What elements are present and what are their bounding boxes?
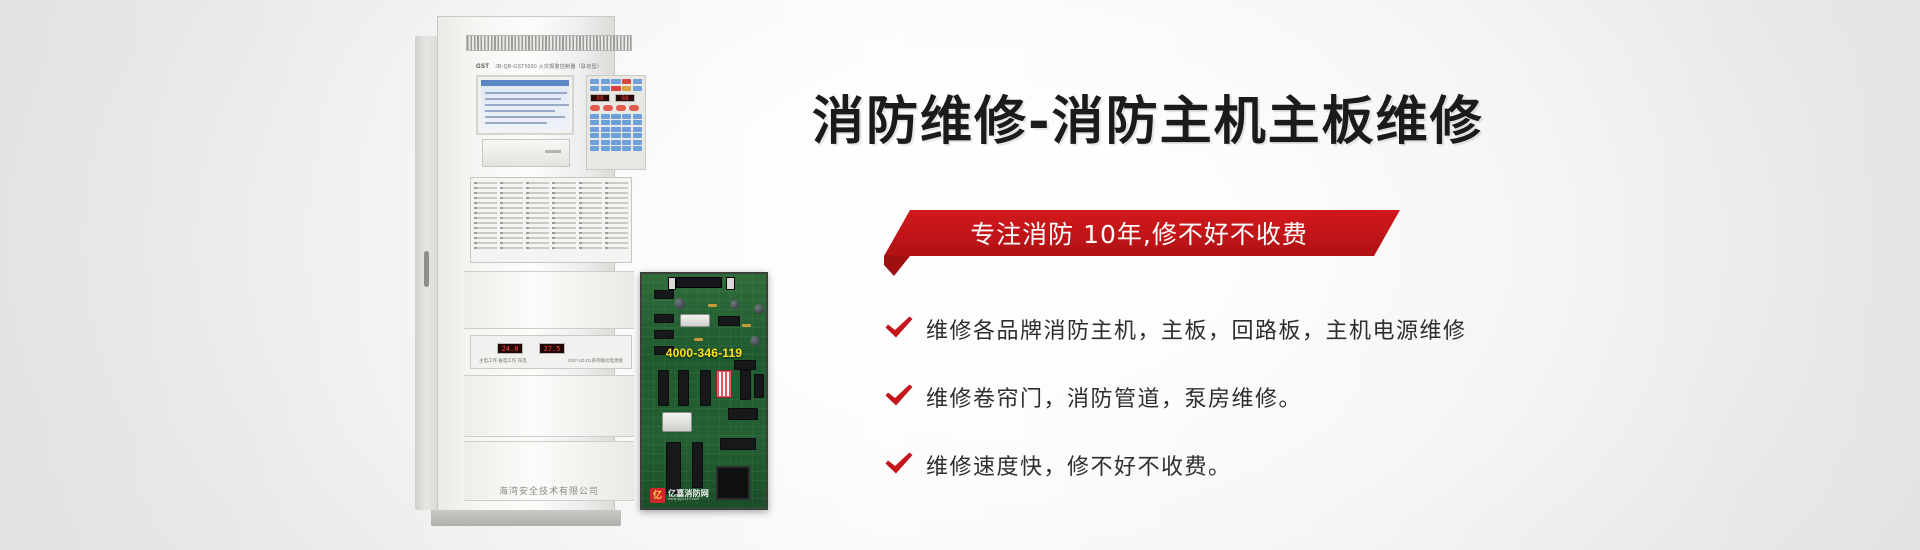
zone-lamp	[474, 247, 497, 249]
key[interactable]	[633, 133, 642, 138]
pcb-connector	[726, 277, 735, 290]
zone-lamp	[579, 222, 602, 224]
power-label-left: 主电工作 备电工作 充电	[479, 358, 527, 364]
key[interactable]	[601, 127, 610, 132]
key[interactable]	[590, 133, 599, 138]
pcb-chip	[678, 370, 689, 406]
key[interactable]	[601, 120, 610, 125]
key[interactable]	[622, 146, 631, 151]
pcb-capacitor	[754, 304, 764, 314]
lcd-line	[485, 110, 555, 112]
pcb-chip	[658, 370, 669, 406]
key[interactable]	[622, 114, 631, 119]
pcb-watermark-logo: 亿 亿嘉消防网 www.yijia119.com	[650, 488, 709, 503]
zone-lamp	[579, 182, 602, 184]
zone-lamp	[605, 197, 628, 199]
zone-lamp	[474, 182, 497, 184]
power-displays: 24.0 27.5	[497, 343, 565, 354]
zone-lamp	[474, 242, 497, 244]
keypad-round-buttons	[590, 105, 642, 111]
status-lamp	[590, 79, 599, 84]
cabinet-power-supply-panel: 24.0 27.5 主电工作 备电工作 充电 GST-LD-D1系列联动电源盘	[470, 335, 632, 369]
zone-lamp	[526, 182, 549, 184]
cabinet-base-plinth	[431, 510, 621, 526]
zone-lamp	[474, 232, 497, 234]
segment-display: 88	[615, 94, 635, 102]
zone-lamp	[552, 187, 575, 189]
zone-lamp	[552, 232, 575, 234]
zone-lamp	[605, 232, 628, 234]
cabinet-zone-indicator-panel	[470, 177, 632, 263]
cabinet-brand-mark: GST	[476, 64, 489, 70]
list-item: 维修各品牌消防主机，主板，回路板，主机电源维修	[884, 295, 1644, 363]
logo-mark-icon: 亿	[650, 488, 665, 503]
key[interactable]	[590, 146, 599, 151]
zone-lamp	[500, 247, 523, 249]
key[interactable]	[601, 114, 610, 119]
zone-lamp	[552, 207, 575, 209]
pcb-capacitor	[730, 300, 739, 309]
ribbon-tail	[884, 256, 924, 276]
pcb-resistor	[694, 338, 703, 341]
lcd-line	[485, 92, 567, 94]
power-label-right: GST-LD-D1系列联动电源盘	[568, 358, 623, 364]
zone-lamp	[474, 187, 497, 189]
zone-lamp	[552, 212, 575, 214]
zone-lamp	[500, 217, 523, 219]
pcb-chip	[718, 316, 740, 326]
fire-alarm-control-panel-image: GST JB-QB-GST5000 火灾报警控制器（联动型）	[415, 16, 615, 526]
zone-lamp	[526, 202, 549, 204]
pcb-connector	[668, 277, 676, 290]
zone-lamp	[605, 182, 628, 184]
dip-switch-lever	[723, 372, 725, 396]
cabinet-front-panel: GST JB-QB-GST5000 火灾报警控制器（联动型）	[437, 16, 615, 526]
zone-lamp	[579, 207, 602, 209]
zone-lamp	[474, 207, 497, 209]
pcb-chip	[754, 374, 764, 398]
power-voltage-display-main: 24.0	[497, 343, 523, 354]
zone-lamp	[500, 182, 523, 184]
list-item-label: 维修速度快，修不好不收费。	[926, 449, 1232, 481]
pcb-chip	[728, 408, 758, 420]
cabinet-side-panel	[415, 36, 439, 510]
zone-lamp	[474, 192, 497, 194]
status-lamp	[611, 79, 620, 84]
lcd-line	[485, 122, 547, 124]
pcb-dip-switch	[716, 370, 732, 398]
key[interactable]	[633, 146, 642, 151]
key[interactable]	[611, 140, 620, 145]
zone-lamp	[526, 212, 549, 214]
key[interactable]	[590, 120, 599, 125]
cabinet-blank-panel	[464, 271, 634, 329]
pcb-crystal-oscillator	[662, 412, 692, 432]
key[interactable]	[622, 140, 631, 145]
key[interactable]	[611, 127, 620, 132]
keypad-number-keys[interactable]	[590, 114, 642, 152]
zone-lamp	[526, 197, 549, 199]
key[interactable]	[611, 114, 620, 119]
zone-lamp	[500, 232, 523, 234]
zone-column	[500, 182, 523, 258]
zone-lamp	[579, 242, 602, 244]
dip-switch-lever	[727, 372, 729, 396]
zone-lamp	[500, 192, 523, 194]
zone-lamp	[579, 197, 602, 199]
cabinet-manufacturer-label: 海湾安全技术有限公司	[460, 484, 638, 497]
lcd-line	[485, 116, 565, 118]
key[interactable]	[590, 127, 599, 132]
pcb-chip	[700, 370, 711, 406]
zone-column	[474, 182, 497, 258]
pcb-chip	[734, 360, 756, 370]
zone-lamp	[500, 242, 523, 244]
cabinet-printer-drawer	[482, 139, 570, 167]
cabinet-vent-grille	[466, 35, 632, 51]
zone-lamp	[500, 207, 523, 209]
zone-lamp	[526, 222, 549, 224]
zone-column	[605, 182, 628, 258]
zone-lamp	[500, 237, 523, 239]
cabinet-brand-strip: GST JB-QB-GST5000 火灾报警控制器（联动型）	[476, 62, 636, 71]
zone-lamp	[552, 202, 575, 204]
list-item: 维修速度快，修不好不收费。	[884, 431, 1644, 499]
zone-lamp	[552, 237, 575, 239]
zone-lamp	[605, 242, 628, 244]
zone-lamp	[500, 212, 523, 214]
pcb-connector	[676, 277, 722, 288]
alarm-lamp	[622, 79, 631, 84]
key[interactable]	[601, 146, 610, 151]
status-lamp	[601, 79, 610, 84]
key[interactable]	[622, 133, 631, 138]
zone-lamp	[474, 227, 497, 229]
zone-lamp	[552, 242, 575, 244]
key[interactable]	[622, 120, 631, 125]
zone-lamp	[605, 187, 628, 189]
lcd-line	[485, 98, 561, 100]
logo-url: www.yijia119.com	[668, 498, 709, 502]
key[interactable]	[590, 114, 599, 119]
promo-banner: GST JB-QB-GST5000 火灾报警控制器（联动型）	[0, 0, 1920, 550]
status-lamp	[601, 86, 610, 91]
zone-lamp	[605, 227, 628, 229]
lcd-title-bar	[481, 80, 569, 86]
zone-lamp	[579, 202, 602, 204]
ribbon-label: 专注消防 10年,修不好不收费	[884, 210, 1400, 256]
zone-lamp	[579, 227, 602, 229]
zone-lamp	[579, 217, 602, 219]
zone-lamp	[500, 197, 523, 199]
status-lamp	[633, 86, 642, 91]
round-button[interactable]	[603, 105, 613, 111]
zone-lamp	[526, 242, 549, 244]
zone-lamp	[552, 217, 575, 219]
check-icon	[884, 452, 926, 478]
zone-column	[526, 182, 549, 258]
key[interactable]	[633, 114, 642, 119]
zone-lamp	[500, 222, 523, 224]
zone-lamp	[474, 237, 497, 239]
promo-ribbon: 专注消防 10年,修不好不收费	[884, 210, 1400, 266]
zone-lamp	[474, 202, 497, 204]
status-lamp	[590, 86, 599, 91]
key[interactable]	[601, 140, 610, 145]
pcb-chip	[692, 442, 703, 488]
pcb-crystal-oscillator	[680, 314, 710, 327]
cabinet-lcd-content	[481, 80, 569, 130]
zone-lamp	[474, 197, 497, 199]
zone-lamp	[579, 192, 602, 194]
pcb-microcontroller	[716, 466, 750, 500]
check-icon	[884, 316, 926, 342]
list-item-label: 维修卷帘门，消防管道，泵房维修。	[926, 381, 1302, 413]
zone-lamp	[474, 217, 497, 219]
key[interactable]	[633, 120, 642, 125]
zone-lamp	[579, 247, 602, 249]
cabinet-model-label: JB-QB-GST5000 火灾报警控制器（联动型）	[495, 63, 602, 70]
zone-lamp	[552, 192, 575, 194]
cabinet-lcd-screen	[476, 75, 574, 135]
list-item: 维修卷帘门，消防管道，泵房维修。	[884, 363, 1644, 431]
zone-lamp	[552, 222, 575, 224]
zone-lamp	[500, 202, 523, 204]
pcb-capacitor	[674, 298, 685, 309]
pcb-resistor	[742, 324, 751, 327]
round-button[interactable]	[590, 105, 600, 111]
fault-lamp	[622, 86, 631, 91]
zone-lamp	[605, 237, 628, 239]
cabinet-keypad: 88 88	[586, 75, 646, 170]
key[interactable]	[633, 140, 642, 145]
key[interactable]	[611, 133, 620, 138]
zone-lamp	[605, 192, 628, 194]
zone-lamp	[605, 217, 628, 219]
power-voltage-display-backup: 27.5	[539, 343, 565, 354]
zone-lamp	[526, 227, 549, 229]
pcb-eprom-chip	[666, 442, 681, 494]
zone-lamp	[605, 222, 628, 224]
zone-lamp	[526, 192, 549, 194]
pcb-resistor	[708, 304, 717, 307]
key[interactable]	[601, 133, 610, 138]
zone-lamp	[526, 247, 549, 249]
feature-list: 维修各品牌消防主机，主板，回路板，主机电源维修 维修卷帘门，消防管道，泵房维修。…	[884, 295, 1644, 499]
check-icon	[884, 384, 926, 410]
key[interactable]	[611, 146, 620, 151]
pcb-chip	[740, 370, 751, 400]
lcd-line	[485, 104, 569, 106]
zone-lamp	[526, 232, 549, 234]
zone-lamp	[579, 237, 602, 239]
zone-column	[552, 182, 575, 258]
key[interactable]	[633, 127, 642, 132]
zone-lamp	[552, 182, 575, 184]
zone-lamp	[579, 187, 602, 189]
zone-lamp	[552, 227, 575, 229]
list-item-label: 维修各品牌消防主机，主板，回路板，主机电源维修	[926, 313, 1467, 345]
zone-lamp	[526, 187, 549, 189]
round-button[interactable]	[616, 105, 626, 111]
key[interactable]	[590, 140, 599, 145]
logo-text: 亿嘉消防网 www.yijia119.com	[668, 490, 709, 502]
zone-lamp	[526, 237, 549, 239]
zone-lamp	[579, 212, 602, 214]
zone-lamp	[605, 202, 628, 204]
pcb-capacitor	[750, 336, 760, 346]
pcb-chip	[654, 330, 674, 339]
key[interactable]	[622, 127, 631, 132]
zone-lamp	[579, 232, 602, 234]
alarm-lamp	[611, 86, 620, 91]
circuit-board-image: 4000-346-119 亿 亿嘉消防网 www.yijia119.com	[640, 272, 768, 510]
segment-display: 88	[590, 94, 610, 102]
keypad-status-row	[590, 79, 642, 91]
keypad-seven-segment-displays: 88 88	[590, 94, 642, 102]
zone-lamp	[552, 247, 575, 249]
zone-lamp	[526, 207, 549, 209]
pcb-chip	[720, 438, 756, 450]
zone-lamp	[552, 197, 575, 199]
zone-column	[579, 182, 602, 258]
pcb-chip	[654, 314, 674, 323]
page-title: 消防维修-消防主机主板维修	[812, 96, 1484, 148]
round-button[interactable]	[629, 105, 639, 111]
zone-lamp	[605, 212, 628, 214]
zone-lamp	[500, 227, 523, 229]
key[interactable]	[611, 120, 620, 125]
zone-lamp	[605, 247, 628, 249]
zone-lamp	[474, 222, 497, 224]
dip-switch-lever	[719, 372, 721, 396]
zone-lamp	[526, 217, 549, 219]
zone-lamp	[605, 207, 628, 209]
pcb-phone-number-overlay: 4000-346-119	[666, 346, 742, 360]
cabinet-blank-panel	[464, 375, 634, 437]
pcb-chip	[654, 290, 674, 299]
zone-lamp	[500, 187, 523, 189]
status-lamp	[633, 79, 642, 84]
zone-lamp	[474, 212, 497, 214]
